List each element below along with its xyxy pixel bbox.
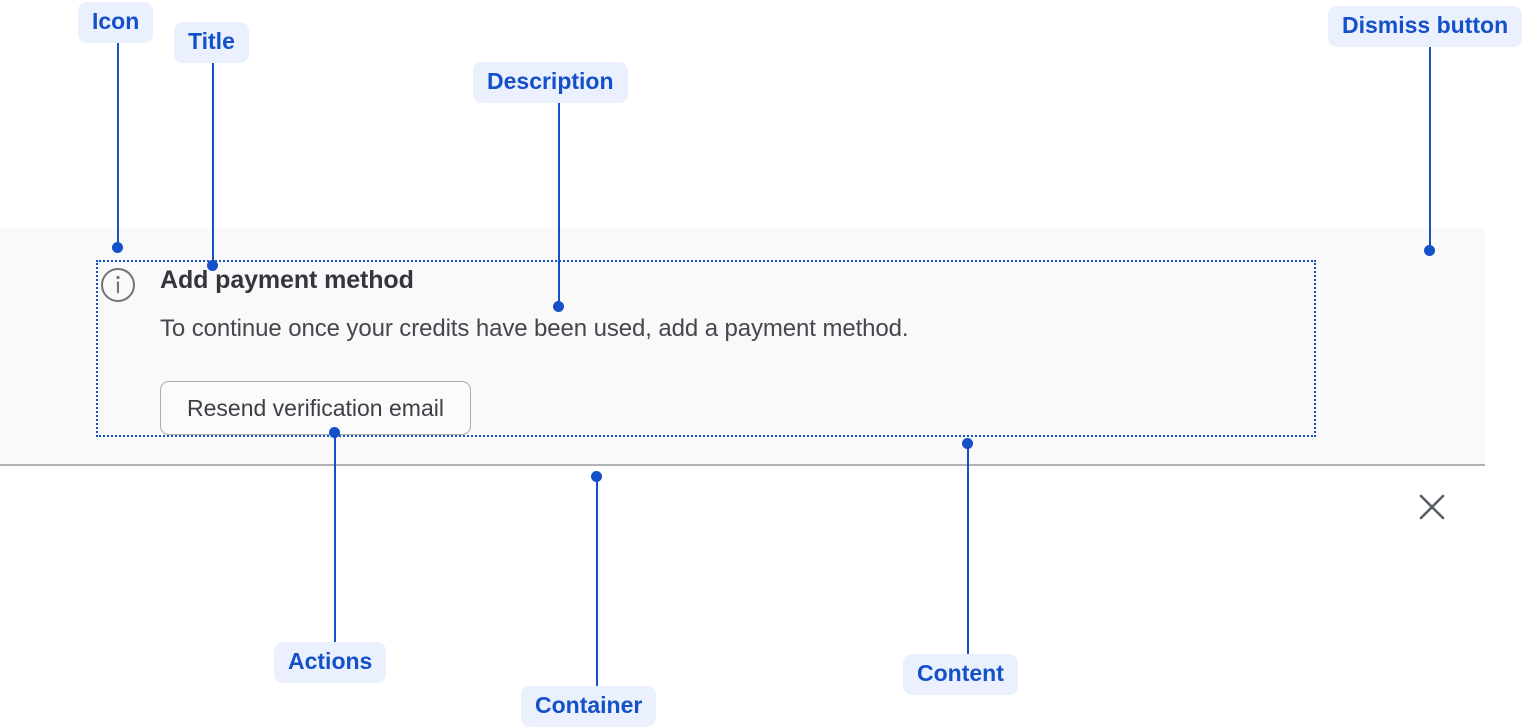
banner-content: Add payment method To continue once your… xyxy=(96,260,1316,437)
annotation-label-container: Container xyxy=(521,686,656,727)
close-x-icon xyxy=(1415,490,1449,524)
annotation-label-content: Content xyxy=(903,654,1018,695)
notification-banner: Add payment method To continue once your… xyxy=(0,228,1485,466)
annotation-dot-container xyxy=(591,471,602,482)
annotation-connector-dismiss-button xyxy=(1429,47,1431,248)
dismiss-button[interactable] xyxy=(1415,490,1449,524)
annotation-label-actions: Actions xyxy=(274,642,386,683)
annotation-label-description: Description xyxy=(473,62,628,103)
annotation-label-dismiss-button: Dismiss button xyxy=(1328,6,1522,47)
banner-title: Add payment method xyxy=(160,266,414,295)
banner-description: To continue once your credits have been … xyxy=(160,315,908,343)
annotation-connector-container xyxy=(596,476,598,686)
resend-verification-email-button[interactable]: Resend verification email xyxy=(160,381,471,435)
banner-actions: Resend verification email xyxy=(160,381,471,435)
annotation-connector-content xyxy=(967,443,969,654)
info-circle-icon xyxy=(100,267,136,303)
annotation-label-title: Title xyxy=(174,22,249,63)
annotation-connector-icon xyxy=(117,43,119,248)
annotation-label-icon: Icon xyxy=(78,2,153,43)
